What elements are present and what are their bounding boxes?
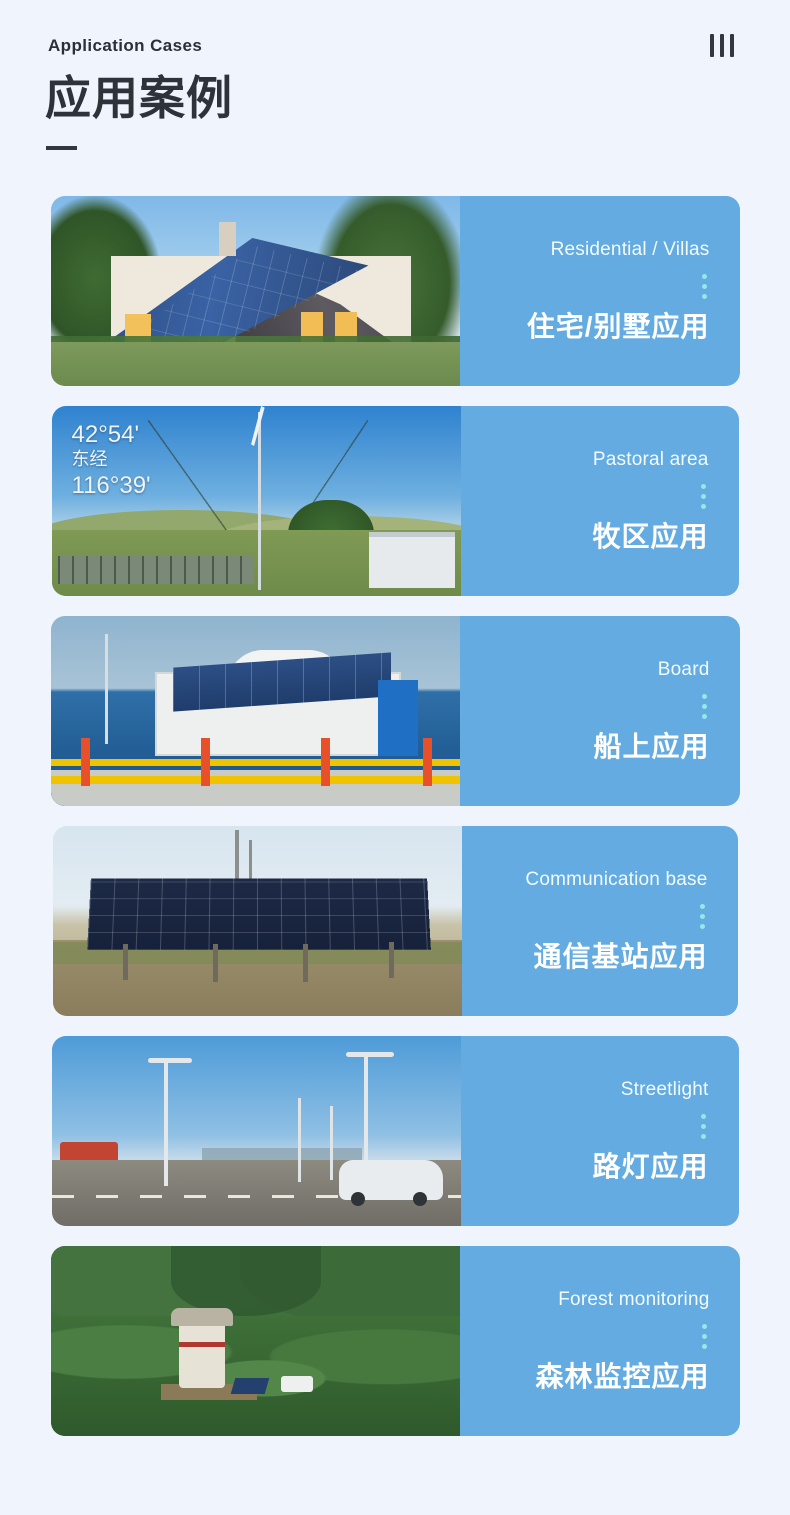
bar-1: [710, 34, 714, 57]
dot-2: [700, 914, 705, 919]
case-label-cn: 船上应用: [593, 731, 709, 763]
flag-pole: [105, 634, 108, 744]
streetlight-pole-4: [330, 1106, 333, 1180]
case-label-panel: Pastoral area 牧区应用: [461, 406, 739, 596]
application-cases-page: Application Cases 应用案例: [0, 0, 790, 1515]
case-card[interactable]: Residential / Villas 住宅/别墅应用: [51, 196, 740, 386]
bar-2: [720, 34, 724, 57]
lawn: [51, 342, 460, 386]
antenna-tower-secondary: [249, 840, 252, 882]
page-title: 应用案例: [45, 74, 233, 124]
dot-3: [702, 714, 707, 719]
railing-lower: [51, 776, 460, 784]
antenna-tower: [235, 830, 239, 882]
dot-3: [702, 294, 707, 299]
fence: [58, 556, 254, 584]
watchtower-roof: [171, 1308, 233, 1326]
streetlight-arm-1: [148, 1058, 192, 1063]
array-leg-1: [123, 944, 128, 980]
dot-2: [702, 704, 707, 709]
three-dots-separator-icon: [702, 1324, 707, 1349]
dot-3: [701, 504, 706, 509]
case-label-en: Pastoral area: [593, 449, 709, 472]
valley: [171, 1246, 321, 1316]
dot-2: [702, 284, 707, 289]
railing-post-2: [201, 738, 210, 786]
case-label-cn: 住宅/别墅应用: [527, 311, 710, 343]
three-dots-separator-icon: [702, 694, 707, 719]
case-label-cn: 牧区应用: [592, 521, 708, 553]
pastoral-wind-mast-photo: 42°54' 东经 116°39': [52, 406, 461, 596]
railing-upper: [51, 759, 460, 766]
page-header: Application Cases 应用案例: [0, 0, 790, 185]
case-label-cn: 路灯应用: [592, 1151, 708, 1183]
solar-panel: [230, 1378, 269, 1394]
communication-base-solar-array-photo: [53, 826, 462, 1016]
streetlight-arm-2: [346, 1052, 394, 1057]
case-card[interactable]: Streetlight 路灯应用: [52, 1036, 739, 1226]
case-label-panel: Forest monitoring 森林监控应用: [460, 1246, 740, 1436]
dot-3: [701, 1134, 706, 1139]
case-label-en: Board: [658, 659, 710, 682]
solar-streetlight-road-photo: [52, 1036, 461, 1226]
boat-solar-cabin-photo: [51, 616, 460, 806]
case-label-panel: Residential / Villas 住宅/别墅应用: [460, 196, 740, 386]
case-label-en: Communication base: [525, 869, 707, 892]
case-card[interactable]: Forest monitoring 森林监控应用: [51, 1246, 740, 1436]
car-wheel-front: [413, 1192, 427, 1206]
dot-3: [702, 1344, 707, 1349]
railing-post-1: [81, 738, 90, 786]
dot-1: [700, 904, 705, 909]
solar-panel-array: [87, 879, 431, 951]
forest-watchtower-photo: [51, 1246, 460, 1436]
streetlight-pole-1: [164, 1058, 168, 1186]
case-label-cn: 森林监控应用: [535, 1361, 709, 1393]
dot-1: [701, 484, 706, 489]
watchtower: [179, 1322, 225, 1388]
wind-turbine-mast: [258, 412, 261, 590]
chimney: [219, 222, 236, 256]
three-dots-separator-icon: [701, 484, 706, 509]
blue-door: [378, 680, 418, 756]
dot-1: [702, 1324, 707, 1329]
dot-2: [702, 1334, 707, 1339]
forest-canopy: [51, 1316, 460, 1436]
railing-post-4: [423, 738, 432, 786]
dot-1: [702, 694, 707, 699]
dot-1: [701, 1114, 706, 1119]
three-dots-separator-icon: [702, 274, 707, 299]
three-vertical-bars-icon[interactable]: [710, 32, 740, 58]
car-wheel-rear: [351, 1192, 365, 1206]
case-card[interactable]: Communication base 通信基站应用: [53, 826, 738, 1016]
case-card[interactable]: 42°54' 东经 116°39' Pastoral area 牧区应用: [52, 406, 739, 596]
case-label-panel: Communication base 通信基站应用: [462, 826, 738, 1016]
array-leg-2: [213, 944, 218, 982]
shed: [369, 532, 455, 588]
bar-3: [730, 34, 734, 57]
page-eyebrow: Application Cases: [48, 36, 202, 56]
title-underline: [46, 146, 77, 150]
case-card[interactable]: Board 船上应用: [51, 616, 740, 806]
array-leg-3: [303, 944, 308, 982]
dot-1: [702, 274, 707, 279]
case-label-panel: Streetlight 路灯应用: [461, 1036, 739, 1226]
case-label-en: Forest monitoring: [558, 1289, 709, 1312]
coordinate-longitude: 116°39': [72, 471, 151, 500]
array-leg-4: [389, 942, 394, 978]
case-label-en: Streetlight: [621, 1079, 709, 1102]
coordinates-overlay: 42°54' 东经 116°39': [72, 420, 151, 500]
coordinate-latitude: 42°54': [72, 420, 151, 449]
case-card-list: Residential / Villas 住宅/别墅应用: [0, 196, 790, 1456]
three-dots-separator-icon: [700, 904, 705, 929]
case-label-panel: Board 船上应用: [460, 616, 740, 806]
residential-rooftop-solar-photo: [51, 196, 460, 386]
dot-3: [700, 924, 705, 929]
white-van: [281, 1376, 313, 1392]
dot-2: [701, 1124, 706, 1129]
dot-2: [701, 494, 706, 499]
case-label-en: Residential / Villas: [551, 239, 710, 262]
streetlight-pole-3: [298, 1098, 301, 1182]
case-label-cn: 通信基站应用: [533, 941, 707, 973]
three-dots-separator-icon: [701, 1114, 706, 1139]
watchtower-band: [179, 1342, 225, 1347]
coordinate-label: 东经: [72, 449, 151, 471]
railing-post-3: [321, 738, 330, 786]
